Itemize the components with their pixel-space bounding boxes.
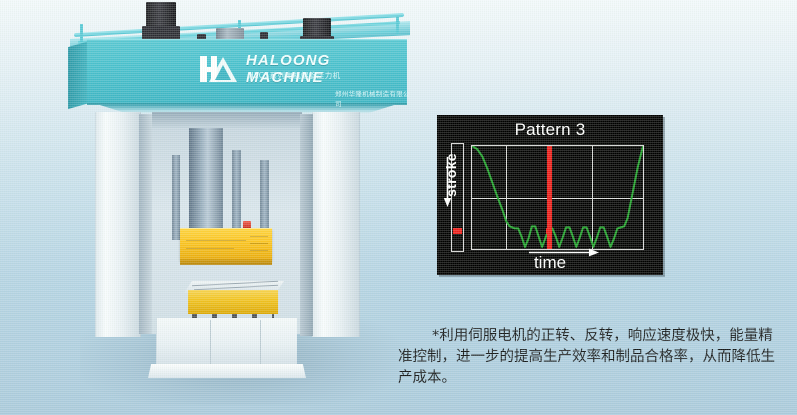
frame-column-right	[312, 112, 360, 337]
frame-column-left	[95, 112, 141, 337]
machine-base-foot	[148, 364, 306, 378]
servo-press-machine-illustration: HALOONG MACHINE HLCS系列电机螺旋压力机 郑州华隆机械制造有限…	[60, 0, 420, 415]
brand-plate: HALOONG MACHINE HLCS系列电机螺旋压力机 郑州华隆机械制造有限…	[170, 48, 410, 104]
bed-seam	[210, 320, 211, 366]
time-cursor-line[interactable]	[547, 146, 552, 249]
stroke-profile-trace	[472, 146, 643, 249]
press-slide-ram	[180, 228, 272, 260]
slide-canvas: HALOONG MACHINE HLCS系列电机螺旋压力机 郑州华隆机械制造有限…	[0, 0, 797, 415]
frame-column-right-shade	[300, 114, 313, 336]
bolster-table	[188, 290, 278, 314]
press-area-top-shadow	[152, 112, 302, 128]
machine-bed	[156, 318, 297, 366]
stroke-slider-thumb[interactable]	[453, 228, 462, 234]
caption-text: *利用伺服电机的正转、反转，响应速度极快，能量精准控制，进一步的提高生产效率和制…	[398, 326, 780, 389]
panel-title: Pattern 3	[437, 120, 663, 140]
frame-column-left-shade	[139, 114, 152, 334]
ram-cylinder	[189, 128, 223, 233]
press-slide-front-face	[180, 259, 272, 265]
slide-ridge	[186, 240, 246, 241]
guide-rod	[172, 155, 180, 240]
rail-post	[80, 24, 83, 42]
brand-subtitle-text: HLCS系列电机螺旋压力机	[248, 70, 341, 81]
slide-ridge	[250, 236, 268, 237]
slide-ridge	[186, 248, 234, 249]
slide-ridge	[250, 243, 268, 244]
stroke-time-plot	[471, 145, 644, 250]
company-name-text: 郑州华隆机械制造有限公司	[335, 88, 410, 108]
rail-post	[396, 16, 399, 34]
haloong-logo-icon	[198, 53, 238, 85]
slide-ridge	[250, 250, 268, 251]
bed-seam	[260, 320, 261, 366]
stroke-axis-label: stroke	[443, 142, 459, 208]
motion-profile-panel: Pattern 3 stroke time	[437, 115, 663, 275]
time-axis-label: time	[437, 253, 663, 273]
time-cursor-point	[546, 228, 552, 234]
